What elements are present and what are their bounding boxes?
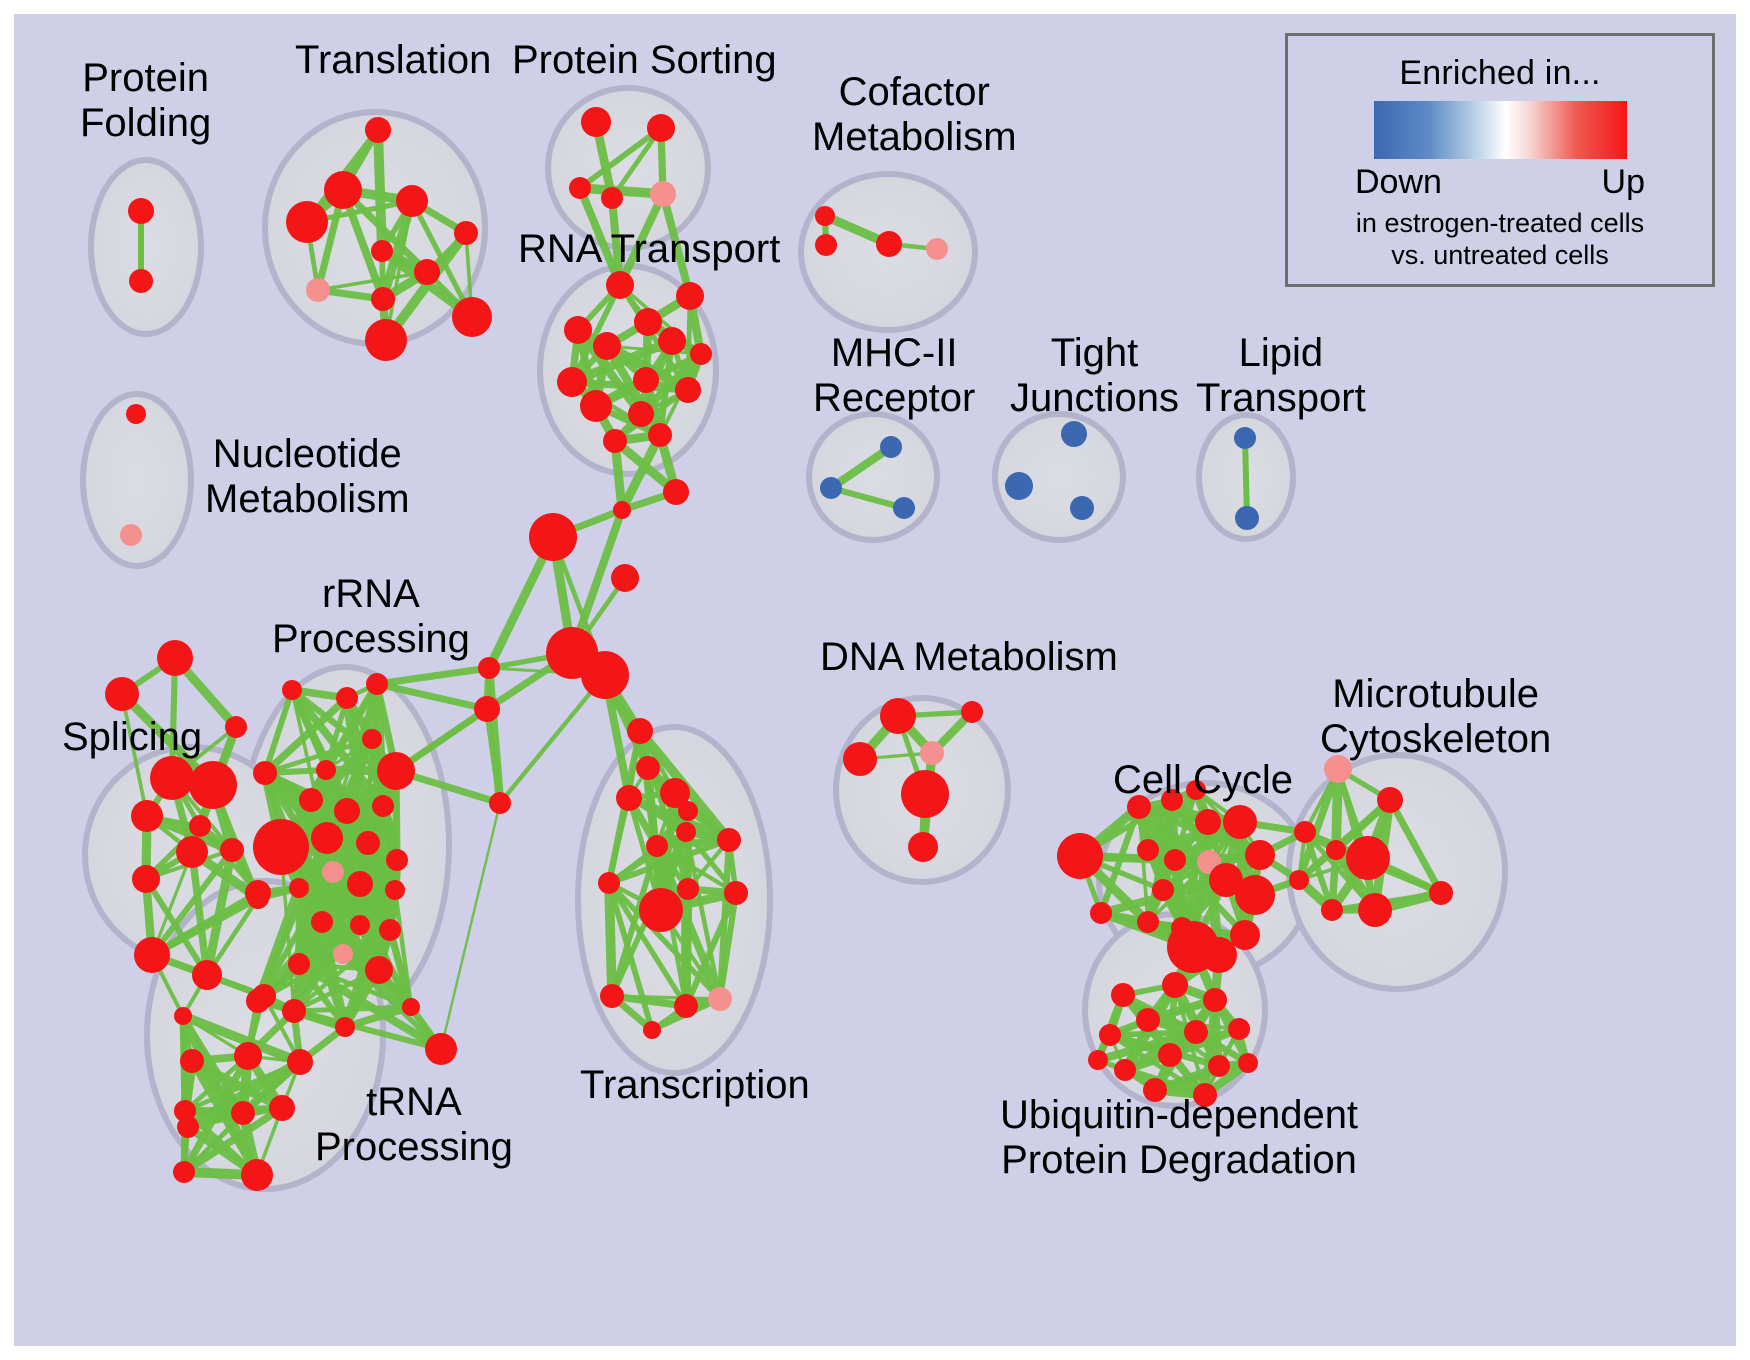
gene-set-node[interactable] xyxy=(288,953,310,975)
gene-set-node[interactable] xyxy=(474,696,500,722)
gene-set-node[interactable] xyxy=(676,822,696,842)
gene-set-node[interactable] xyxy=(247,887,269,909)
gene-set-node[interactable] xyxy=(677,878,699,900)
gene-set-node[interactable] xyxy=(1235,506,1259,530)
legend-subtitle-line2: vs. untreated cells xyxy=(1356,240,1644,272)
gene-set-node[interactable] xyxy=(529,513,577,561)
gene-set-node[interactable] xyxy=(613,501,631,519)
gene-set-node[interactable] xyxy=(650,181,676,207)
gene-set-node[interactable] xyxy=(1061,421,1087,447)
gene-set-node[interactable] xyxy=(377,752,415,790)
gene-set-node[interactable] xyxy=(601,187,623,209)
legend-subtitle-line1: in estrogen-treated cells xyxy=(1356,208,1644,240)
gene-set-node[interactable] xyxy=(379,919,401,941)
gene-set-node[interactable] xyxy=(1005,472,1033,500)
gene-set-node[interactable] xyxy=(564,316,592,344)
gene-set-node[interactable] xyxy=(581,651,629,699)
gene-set-node[interactable] xyxy=(371,240,393,262)
gene-set-node[interactable] xyxy=(372,795,394,817)
gene-set-node[interactable] xyxy=(1088,1050,1108,1070)
cluster-label-translation: Translation xyxy=(295,38,491,83)
gene-set-node[interactable] xyxy=(1294,821,1316,843)
gene-set-node[interactable] xyxy=(134,937,170,973)
gene-set-node[interactable] xyxy=(600,984,624,1008)
gene-set-node[interactable] xyxy=(176,836,208,868)
gene-set-node[interactable] xyxy=(1235,875,1275,915)
gene-set-node[interactable] xyxy=(646,835,668,857)
edge xyxy=(299,888,395,890)
gene-set-node[interactable] xyxy=(634,308,662,336)
gene-set-node[interactable] xyxy=(157,640,193,676)
gene-set-node[interactable] xyxy=(356,831,380,855)
gene-set-node[interactable] xyxy=(639,888,683,932)
gene-set-node[interactable] xyxy=(628,401,654,427)
legend-down-label: Down xyxy=(1355,163,1442,202)
gene-set-node[interactable] xyxy=(241,1159,273,1191)
cluster-ellipse-mhc-ii-receptor xyxy=(809,414,937,540)
legend-subtitle: in estrogen-treated cells vs. untreated … xyxy=(1356,208,1644,272)
gene-set-node[interactable] xyxy=(324,171,362,209)
gene-set-node[interactable] xyxy=(1090,902,1112,924)
cluster-label-nucleotide-metabolism: Nucleotide Metabolism xyxy=(205,432,410,522)
gene-set-node[interactable] xyxy=(366,673,388,695)
gene-set-node[interactable] xyxy=(643,1021,661,1039)
gene-set-node[interactable] xyxy=(132,865,160,893)
gene-set-node[interactable] xyxy=(1245,840,1275,870)
gene-set-node[interactable] xyxy=(926,238,948,260)
gene-set-node[interactable] xyxy=(396,185,428,217)
gene-set-node[interactable] xyxy=(150,756,194,800)
gene-set-node[interactable] xyxy=(335,1017,355,1037)
gene-set-node[interactable] xyxy=(598,872,620,894)
gene-set-node[interactable] xyxy=(489,792,511,814)
gene-set-node[interactable] xyxy=(180,1049,204,1073)
gene-set-node[interactable] xyxy=(1137,839,1159,861)
gene-set-node[interactable] xyxy=(1195,809,1221,835)
gene-set-node[interactable] xyxy=(1164,849,1186,871)
gene-set-node[interactable] xyxy=(1346,836,1390,880)
gene-set-node[interactable] xyxy=(880,436,902,458)
gene-set-node[interactable] xyxy=(717,828,741,852)
gene-set-node[interactable] xyxy=(1228,1018,1250,1040)
gene-set-node[interactable] xyxy=(1429,881,1453,905)
gene-set-node[interactable] xyxy=(674,994,698,1018)
cluster-ellipse-protein-sorting xyxy=(548,88,708,248)
gene-set-node[interactable] xyxy=(282,680,302,700)
cluster-label-mhc-ii-receptor: MHC-II Receptor xyxy=(813,331,975,421)
gene-set-node[interactable] xyxy=(1137,911,1159,933)
gene-set-node[interactable] xyxy=(876,231,902,257)
gene-set-node[interactable] xyxy=(425,1033,457,1065)
legend-title: Enriched in... xyxy=(1399,54,1600,93)
gene-set-node[interactable] xyxy=(580,390,612,422)
gene-set-node[interactable] xyxy=(1114,1059,1136,1081)
gene-set-node[interactable] xyxy=(658,327,686,355)
gene-set-node[interactable] xyxy=(225,716,247,738)
gene-set-node[interactable] xyxy=(663,479,689,505)
cluster-label-tight-junctions: Tight Junctions xyxy=(1010,331,1179,421)
cluster-label-trna-processing: tRNA Processing xyxy=(315,1080,513,1170)
gene-set-node[interactable] xyxy=(724,881,748,905)
gene-set-node[interactable] xyxy=(286,201,328,243)
gene-set-node[interactable] xyxy=(1162,972,1188,998)
gene-set-node[interactable] xyxy=(627,718,653,744)
gene-set-node[interactable] xyxy=(452,297,492,337)
cluster-ellipse-protein-folding xyxy=(91,160,201,334)
gene-set-node[interactable] xyxy=(287,1049,313,1075)
gene-set-node[interactable] xyxy=(690,343,712,365)
cluster-label-rrna-processing: rRNA Processing xyxy=(272,572,470,662)
gene-set-node[interactable] xyxy=(231,1101,255,1125)
gene-set-node[interactable] xyxy=(131,800,163,832)
gene-set-node[interactable] xyxy=(129,269,153,293)
gene-set-node[interactable] xyxy=(569,177,591,199)
gene-set-node[interactable] xyxy=(220,838,244,862)
gene-set-node[interactable] xyxy=(557,367,587,397)
gene-set-node[interactable] xyxy=(478,657,500,679)
gene-set-node[interactable] xyxy=(311,822,343,854)
enrichment-map-figure: Protein FoldingTranslationProtein Sortin… xyxy=(0,0,1750,1360)
gene-set-node[interactable] xyxy=(647,114,675,142)
edge xyxy=(1245,438,1247,518)
gene-set-node[interactable] xyxy=(385,880,405,900)
gene-set-node[interactable] xyxy=(365,117,391,143)
gene-set-node[interactable] xyxy=(1203,988,1227,1012)
gene-set-node[interactable] xyxy=(961,701,983,723)
gene-set-node[interactable] xyxy=(1208,1055,1230,1077)
gene-set-node[interactable] xyxy=(365,319,407,361)
gene-set-node[interactable] xyxy=(593,332,621,360)
gene-set-node[interactable] xyxy=(105,677,139,711)
cluster-label-protein-sorting: Protein Sorting xyxy=(512,38,777,83)
gene-set-node[interactable] xyxy=(128,198,154,224)
gene-set-node[interactable] xyxy=(306,278,330,302)
gene-set-node[interactable] xyxy=(843,742,877,776)
legend-end-labels: Down Up xyxy=(1355,163,1645,202)
gene-set-node[interactable] xyxy=(815,206,835,226)
gene-set-node[interactable] xyxy=(269,1095,295,1121)
gene-set-node[interactable] xyxy=(606,271,634,299)
gene-set-node[interactable] xyxy=(1070,496,1094,520)
gene-set-node[interactable] xyxy=(299,788,323,812)
gene-set-node[interactable] xyxy=(189,815,211,837)
gene-set-node[interactable] xyxy=(633,367,659,393)
legend-up-label: Up xyxy=(1602,163,1645,202)
cluster-label-protein-folding: Protein Folding xyxy=(80,56,211,146)
cluster-label-splicing: Splicing xyxy=(62,715,202,760)
legend-panel: Enriched in... Down Up in estrogen-treat… xyxy=(1285,33,1715,287)
gene-set-node[interactable] xyxy=(316,760,336,780)
gene-set-node[interactable] xyxy=(174,1007,192,1025)
gene-set-node[interactable] xyxy=(1326,840,1346,860)
gene-set-node[interactable] xyxy=(1099,1024,1121,1046)
gene-set-node[interactable] xyxy=(676,282,704,310)
gene-set-node[interactable] xyxy=(362,729,382,749)
gene-set-node[interactable] xyxy=(1358,893,1392,927)
gene-set-node[interactable] xyxy=(386,849,408,871)
gene-set-node[interactable] xyxy=(234,1042,262,1070)
gene-set-node[interactable] xyxy=(1057,833,1103,879)
gene-set-node[interactable] xyxy=(192,960,222,990)
gene-set-node[interactable] xyxy=(253,819,309,875)
gene-set-node[interactable] xyxy=(246,989,270,1013)
cluster-label-dna-metabolism: DNA Metabolism xyxy=(820,635,1118,680)
cluster-label-microtubule-cytoskeleton: Microtubule Cytoskeleton xyxy=(1320,672,1551,762)
gene-set-node[interactable] xyxy=(893,497,915,519)
gene-set-node[interactable] xyxy=(675,377,701,403)
gene-set-node[interactable] xyxy=(603,429,627,453)
gene-set-node[interactable] xyxy=(371,287,395,311)
gene-set-node[interactable] xyxy=(173,1161,195,1183)
gene-set-node[interactable] xyxy=(289,878,309,898)
gene-set-node[interactable] xyxy=(1230,920,1260,950)
gene-set-node[interactable] xyxy=(920,741,944,765)
gene-set-node[interactable] xyxy=(454,221,478,245)
gene-set-node[interactable] xyxy=(1238,1053,1258,1073)
gene-set-node[interactable] xyxy=(901,770,949,818)
gene-set-node[interactable] xyxy=(908,832,938,862)
gene-set-node[interactable] xyxy=(1136,1008,1160,1032)
gene-set-node[interactable] xyxy=(350,915,370,935)
gene-set-node[interactable] xyxy=(347,871,373,897)
edge xyxy=(378,130,382,251)
gene-set-node[interactable] xyxy=(678,801,698,821)
gene-set-node[interactable] xyxy=(581,107,611,137)
gene-set-node[interactable] xyxy=(402,998,420,1016)
gene-set-node[interactable] xyxy=(1111,983,1135,1007)
cluster-label-cell-cycle: Cell Cycle xyxy=(1113,758,1293,803)
gene-set-node[interactable] xyxy=(1152,879,1174,901)
gene-set-node[interactable] xyxy=(1234,427,1256,449)
gene-set-node[interactable] xyxy=(1201,937,1237,973)
gene-set-node[interactable] xyxy=(815,234,837,256)
gene-set-node[interactable] xyxy=(365,956,393,984)
gene-set-node[interactable] xyxy=(336,687,358,709)
gene-set-node[interactable] xyxy=(253,761,277,785)
cluster-label-cofactor-metabolism: Cofactor Metabolism xyxy=(812,70,1017,160)
gene-set-node[interactable] xyxy=(334,798,360,824)
gene-set-node[interactable] xyxy=(333,944,353,964)
gene-set-node[interactable] xyxy=(126,404,146,424)
gene-set-node[interactable] xyxy=(611,564,639,592)
cluster-label-rna-transport: RNA Transport xyxy=(518,227,780,272)
gene-set-node[interactable] xyxy=(1223,805,1257,839)
gene-set-node[interactable] xyxy=(636,756,660,780)
gene-set-node[interactable] xyxy=(282,999,306,1023)
gene-set-node[interactable] xyxy=(120,524,142,546)
gene-set-node[interactable] xyxy=(820,477,842,499)
cluster-label-lipid-transport: Lipid Transport xyxy=(1196,331,1366,421)
cluster-label-ubiquitin-degradation: Ubiquitin-dependent Protein Degradation xyxy=(1000,1093,1358,1183)
gene-set-node[interactable] xyxy=(616,785,642,811)
gene-set-node[interactable] xyxy=(708,987,732,1011)
legend-colorbar xyxy=(1374,101,1627,159)
gene-set-node[interactable] xyxy=(1158,1043,1182,1067)
gene-set-node[interactable] xyxy=(880,698,916,734)
gene-set-node[interactable] xyxy=(322,861,344,883)
gene-set-node[interactable] xyxy=(414,259,440,285)
gene-set-node[interactable] xyxy=(177,1116,199,1138)
gene-set-node[interactable] xyxy=(189,761,237,809)
gene-set-node[interactable] xyxy=(311,911,333,933)
cluster-label-transcription: Transcription xyxy=(580,1063,810,1108)
gene-set-node[interactable] xyxy=(1321,899,1343,921)
gene-set-node[interactable] xyxy=(648,423,672,447)
gene-set-node[interactable] xyxy=(1289,870,1309,890)
gene-set-node[interactable] xyxy=(1377,787,1403,813)
gene-set-node[interactable] xyxy=(1184,1020,1208,1044)
